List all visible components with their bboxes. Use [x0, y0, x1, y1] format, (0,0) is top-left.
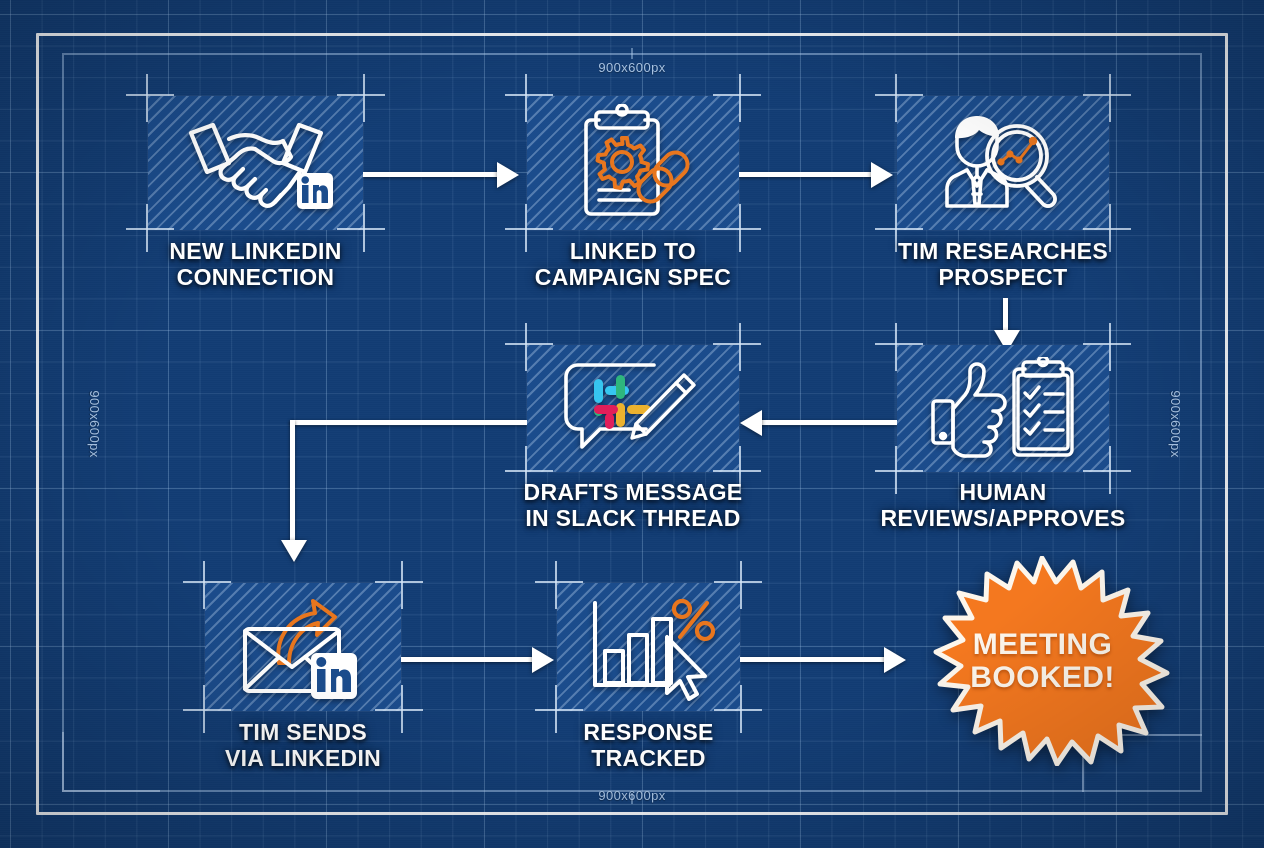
- clipboard-gear-chain-icon: [527, 96, 739, 230]
- node-label-line1: LINKED TO: [535, 238, 731, 264]
- dimension-label-top: 900x600px: [0, 60, 1264, 75]
- thumbs-up-checklist-icon: [897, 345, 1109, 472]
- node-label-line1: TIM SENDS: [225, 719, 381, 745]
- crop-mark: [1109, 323, 1111, 371]
- slack-speech-bubble-pen-icon: [527, 345, 739, 472]
- handshake-linkedin-icon: [148, 96, 363, 230]
- node-label: TIM SENDS VIA LINKEDIN: [225, 719, 381, 771]
- node-label: RESPONSE TRACKED: [583, 719, 713, 771]
- crop-mark: [363, 204, 365, 252]
- crop-mark: [1109, 74, 1111, 122]
- node-tim-researches-prospect[interactable]: TIM RESEARCHES PROSPECT: [897, 96, 1109, 230]
- dimension-tick-bottom: [631, 793, 633, 804]
- node-label: TIM RESEARCHES PROSPECT: [898, 238, 1108, 290]
- node-label-line1: NEW LINKEDIN: [169, 238, 341, 264]
- connector-1-line: [363, 172, 503, 177]
- connector-2-line: [737, 172, 877, 177]
- crop-mark: [401, 685, 403, 733]
- connector-5-line-horizontal: [290, 420, 530, 425]
- connector-7-line: [740, 657, 890, 662]
- node-label-line1: HUMAN: [880, 479, 1125, 505]
- crop-mark: [739, 204, 741, 252]
- connector-6-arrowhead: [532, 647, 554, 673]
- connector-2-arrowhead: [871, 162, 893, 188]
- node-label-line2: TRACKED: [583, 745, 713, 771]
- envelope-send-linkedin-icon: [205, 583, 401, 711]
- crop-mark: [740, 561, 742, 609]
- crop-mark: [401, 561, 403, 609]
- node-response-tracked[interactable]: RESPONSE TRACKED: [557, 583, 740, 711]
- node-new-linkedin-connection[interactable]: NEW LINKEDIN CONNECTION: [148, 96, 363, 230]
- bar-chart-percent-cursor-icon: [557, 583, 740, 711]
- node-label: NEW LINKEDIN CONNECTION: [169, 238, 341, 290]
- crop-mark: [740, 685, 742, 733]
- burst-label-line2: BOOKED!: [970, 661, 1114, 694]
- dimension-label-left: 900x600px: [87, 390, 102, 457]
- slack-logo-mark: [594, 375, 651, 429]
- node-label-line2: CAMPAIGN SPEC: [535, 264, 731, 290]
- node-linked-to-campaign-spec[interactable]: LINKED TO CAMPAIGN SPEC: [527, 96, 739, 230]
- crop-mark: [363, 74, 365, 122]
- node-label: HUMAN REVIEWS/APPROVES: [880, 479, 1125, 531]
- node-label-line2: IN SLACK THREAD: [524, 505, 743, 531]
- node-human-reviews-approves[interactable]: HUMAN REVIEWS/APPROVES: [897, 345, 1109, 472]
- connector-5-line-vertical: [290, 420, 295, 545]
- node-drafts-message-in-slack-thread[interactable]: DRAFTS MESSAGE IN SLACK THREAD: [527, 345, 739, 472]
- node-label-line2: PROSPECT: [898, 264, 1108, 290]
- node-label: LINKED TO CAMPAIGN SPEC: [535, 238, 731, 290]
- node-tim-sends-via-linkedin[interactable]: TIM SENDS VIA LINKEDIN: [205, 583, 401, 711]
- burst-label-line1: MEETING: [973, 628, 1112, 661]
- dimension-tick-top: [631, 48, 633, 59]
- dimension-label-right: 900x600px: [1168, 390, 1183, 457]
- node-label-line2: VIA LINKEDIN: [225, 745, 381, 771]
- burst-label: MEETING BOOKED!: [905, 556, 1180, 766]
- node-label-line2: REVIEWS/APPROVES: [880, 505, 1125, 531]
- crop-mark: [739, 74, 741, 122]
- crop-mark: [739, 323, 741, 371]
- node-label-line1: RESPONSE: [583, 719, 713, 745]
- person-magnifier-chart-icon: [897, 96, 1109, 230]
- title-block-bottom-left: [62, 732, 160, 792]
- connector-5-arrowhead: [281, 540, 307, 562]
- connector-1-arrowhead: [497, 162, 519, 188]
- node-label-line2: CONNECTION: [169, 264, 341, 290]
- meeting-booked-burst[interactable]: MEETING BOOKED!: [905, 556, 1180, 766]
- connector-6-line: [398, 657, 538, 662]
- node-label: DRAFTS MESSAGE IN SLACK THREAD: [524, 479, 743, 531]
- node-label-line1: TIM RESEARCHES: [898, 238, 1108, 264]
- connector-7-arrowhead: [884, 647, 906, 673]
- node-label-line1: DRAFTS MESSAGE: [524, 479, 743, 505]
- crop-mark: [1109, 204, 1111, 252]
- connector-4-line: [760, 420, 900, 425]
- connector-4-arrowhead: [740, 410, 762, 436]
